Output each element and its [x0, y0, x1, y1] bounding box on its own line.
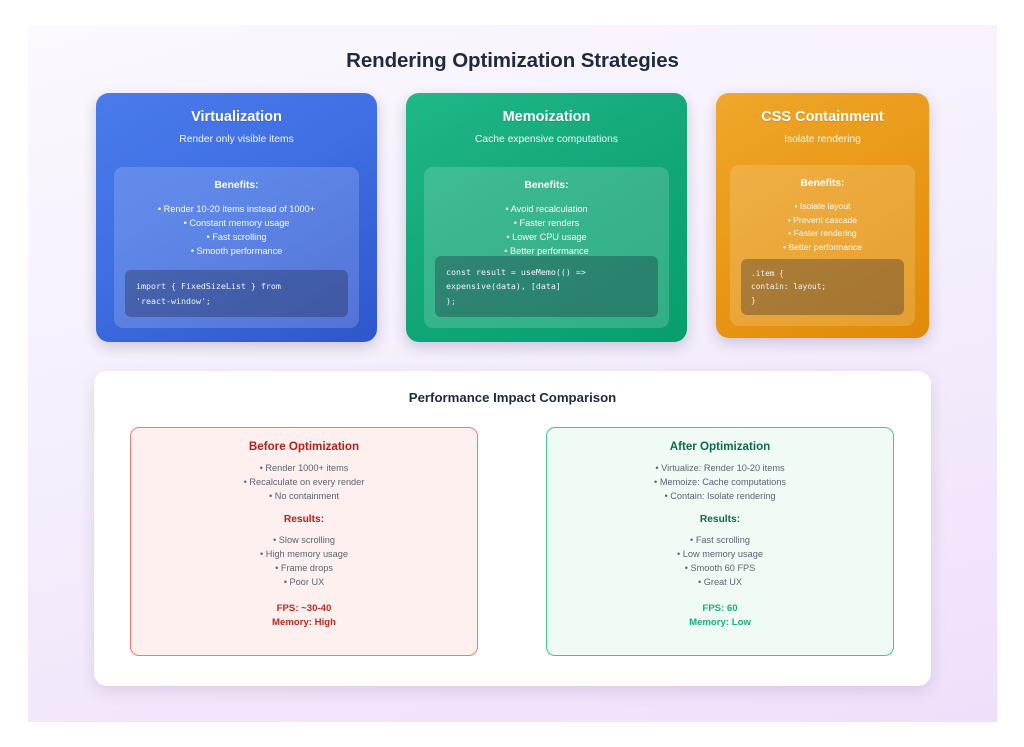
before-results-list: • Slow scrolling • High memory usage • F…	[131, 534, 477, 589]
benefit-item: • Faster rendering	[730, 227, 915, 241]
comparison-title: Performance Impact Comparison	[94, 390, 931, 405]
benefit-item: • Avoid recalculation	[424, 202, 669, 216]
after-items-list: • Virtualize: Render 10-20 items • Memoi…	[547, 462, 893, 503]
code-snippet: const result = useMemo(() => expensive(d…	[435, 256, 658, 318]
list-item: • Low memory usage	[547, 548, 893, 562]
benefit-item: • Better performance	[730, 241, 915, 255]
fps-metric: FPS: 60	[547, 602, 893, 616]
benefit-item: • Faster renders	[424, 216, 669, 230]
memory-metric: Memory: Low	[547, 616, 893, 630]
list-item: • Smooth 60 FPS	[547, 562, 893, 576]
benefit-item: • Prevent cascade	[730, 214, 915, 228]
after-metrics: FPS: 60 Memory: Low	[547, 602, 893, 630]
list-item: • Fast scrolling	[547, 534, 893, 548]
benefits-panel: Benefits: • Avoid recalculation • Faster…	[424, 167, 669, 328]
list-item: • Poor UX	[131, 576, 477, 590]
benefits-panel: Benefits: • Isolate layout • Prevent cas…	[730, 165, 915, 326]
card-title: Memoization	[406, 109, 687, 125]
card-subtitle: Render only visible items	[96, 134, 377, 145]
list-item: • Frame drops	[131, 562, 477, 576]
list-item: • Slow scrolling	[131, 534, 477, 548]
strategy-card-virtualization[interactable]: Virtualization Render only visible items…	[96, 93, 377, 342]
list-item: • Contain: Isolate rendering	[547, 490, 893, 504]
benefit-item: • Lower CPU usage	[424, 230, 669, 244]
benefit-item: • Render 10-20 items instead of 1000+	[114, 202, 359, 216]
benefits-label: Benefits:	[424, 180, 669, 191]
after-results-list: • Fast scrolling • Low memory usage • Sm…	[547, 534, 893, 589]
card-title: Virtualization	[96, 109, 377, 125]
benefit-item: • Smooth performance	[114, 244, 359, 258]
before-items-list: • Render 1000+ items • Recalculate on ev…	[131, 462, 477, 503]
code-snippet: import { FixedSizeList } from 'react-win…	[125, 270, 348, 317]
strategy-card-memoization[interactable]: Memoization Cache expensive computations…	[406, 93, 687, 342]
results-label: Results:	[547, 514, 893, 525]
card-subtitle: Isolate rendering	[716, 134, 929, 145]
after-optimization-panel[interactable]: After Optimization • Virtualize: Render …	[546, 427, 894, 656]
list-item: • No containment	[131, 490, 477, 504]
card-title: CSS Containment	[716, 109, 929, 125]
code-snippet: .item { contain: layout; }	[741, 259, 904, 316]
benefit-item: • Isolate layout	[730, 200, 915, 214]
strategy-card-css-containment[interactable]: CSS Containment Isolate rendering Benefi…	[716, 93, 929, 338]
panel-title: Before Optimization	[131, 440, 477, 453]
card-subtitle: Cache expensive computations	[406, 134, 687, 145]
strategy-cards: Virtualization Render only visible items…	[28, 93, 997, 348]
memory-metric: Memory: High	[131, 616, 477, 630]
page-container: Rendering Optimization Strategies Virtua…	[28, 25, 997, 722]
fps-metric: FPS: ~30-40	[131, 602, 477, 616]
results-label: Results:	[131, 514, 477, 525]
page-title: Rendering Optimization Strategies	[28, 49, 997, 73]
list-item: • Great UX	[547, 576, 893, 590]
before-optimization-panel[interactable]: Before Optimization • Render 1000+ items…	[130, 427, 478, 656]
list-item: • High memory usage	[131, 548, 477, 562]
benefits-label: Benefits:	[730, 178, 915, 189]
performance-comparison-panel: Performance Impact Comparison Before Opt…	[94, 371, 931, 686]
comparison-panels: Before Optimization • Render 1000+ items…	[94, 427, 931, 660]
list-item: • Render 1000+ items	[131, 462, 477, 476]
list-item: • Memoize: Cache computations	[547, 476, 893, 490]
benefit-item: • Constant memory usage	[114, 216, 359, 230]
list-item: • Virtualize: Render 10-20 items	[547, 462, 893, 476]
benefits-panel: Benefits: • Render 10-20 items instead o…	[114, 167, 359, 328]
panel-title: After Optimization	[547, 440, 893, 453]
benefits-label: Benefits:	[114, 180, 359, 191]
list-item: • Recalculate on every render	[131, 476, 477, 490]
before-metrics: FPS: ~30-40 Memory: High	[131, 602, 477, 630]
benefit-item: • Fast scrolling	[114, 230, 359, 244]
